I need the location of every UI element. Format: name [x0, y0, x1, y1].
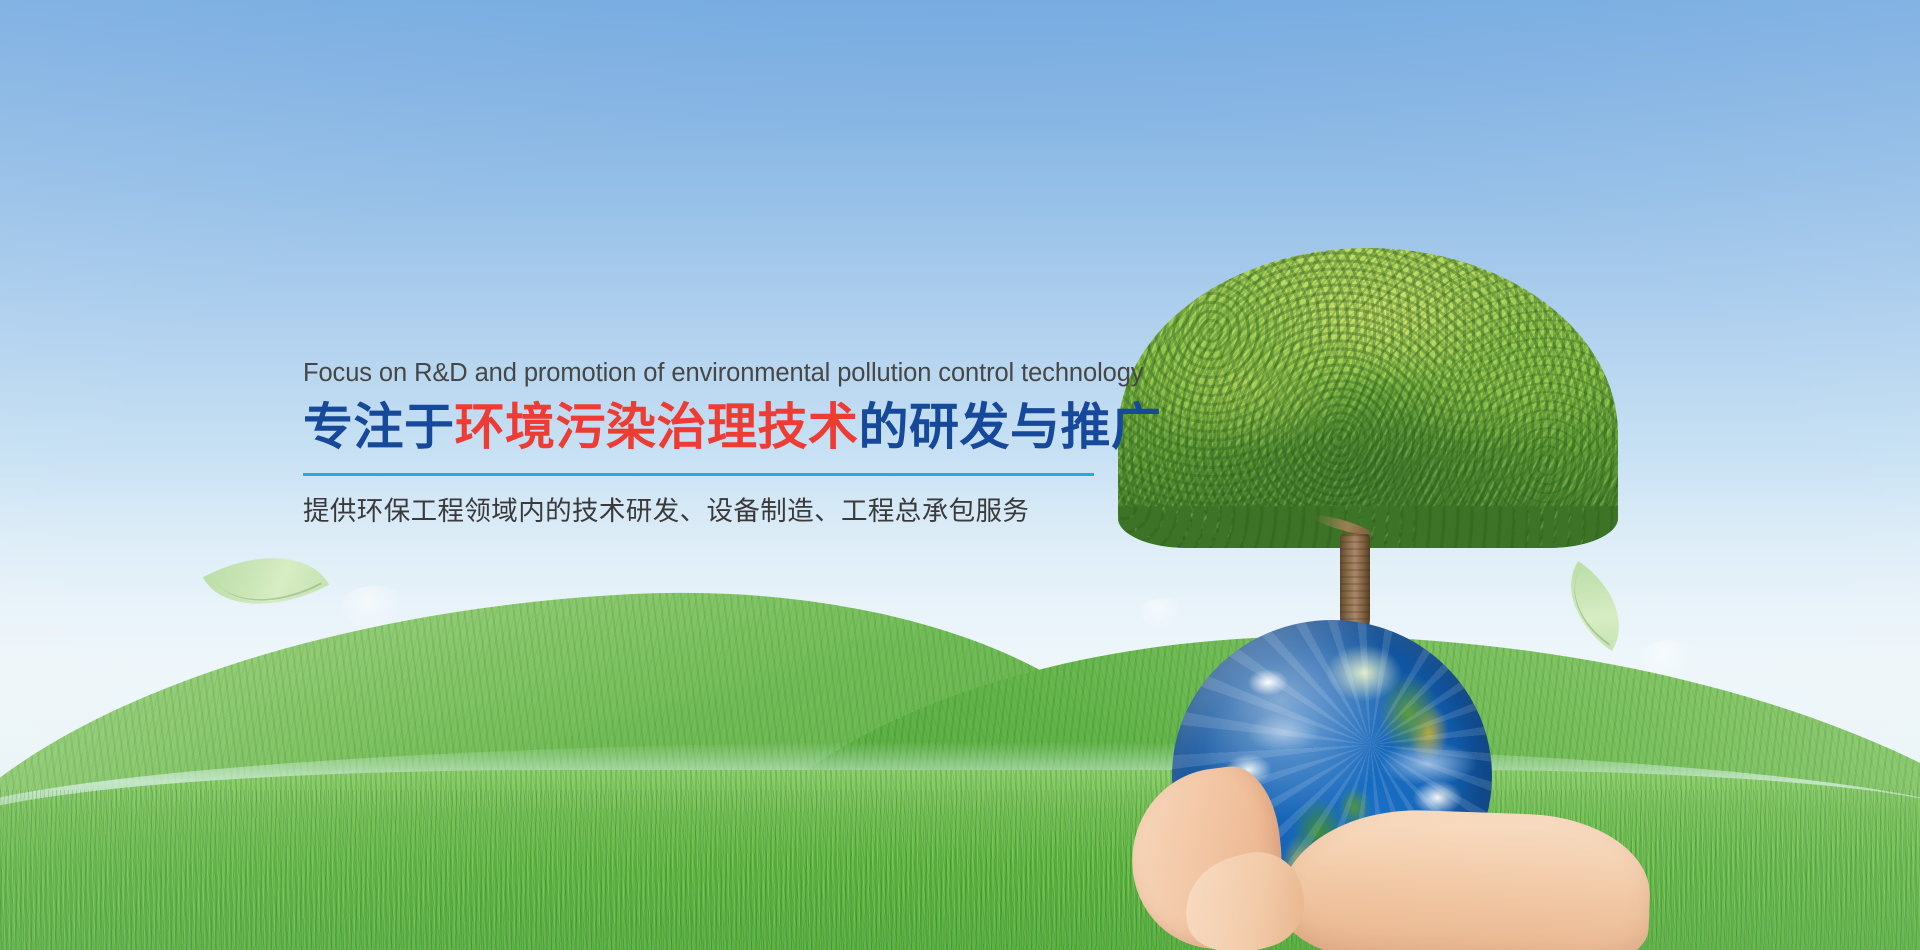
headline-segment-prefix: 专注于 — [303, 398, 455, 456]
banner-headline: 专注于环境污染治理技术的研发与推广 — [303, 398, 1103, 457]
banner-text-block: Focus on R&D and promotion of environmen… — [303, 358, 1103, 529]
headline-divider — [303, 473, 1094, 476]
headline-segment-suffix: 的研发与推广 — [859, 398, 1162, 456]
hero-banner: Focus on R&D and promotion of environmen… — [0, 0, 1920, 950]
foreground-meadow — [0, 770, 1920, 950]
headline-segment-highlight: 环境污染治理技术 — [455, 398, 859, 456]
banner-eyebrow-text: Focus on R&D and promotion of environmen… — [303, 358, 1103, 389]
banner-tagline-text: 提供环保工程领域内的技术研发、设备制造、工程总承包服务 — [303, 495, 1103, 529]
